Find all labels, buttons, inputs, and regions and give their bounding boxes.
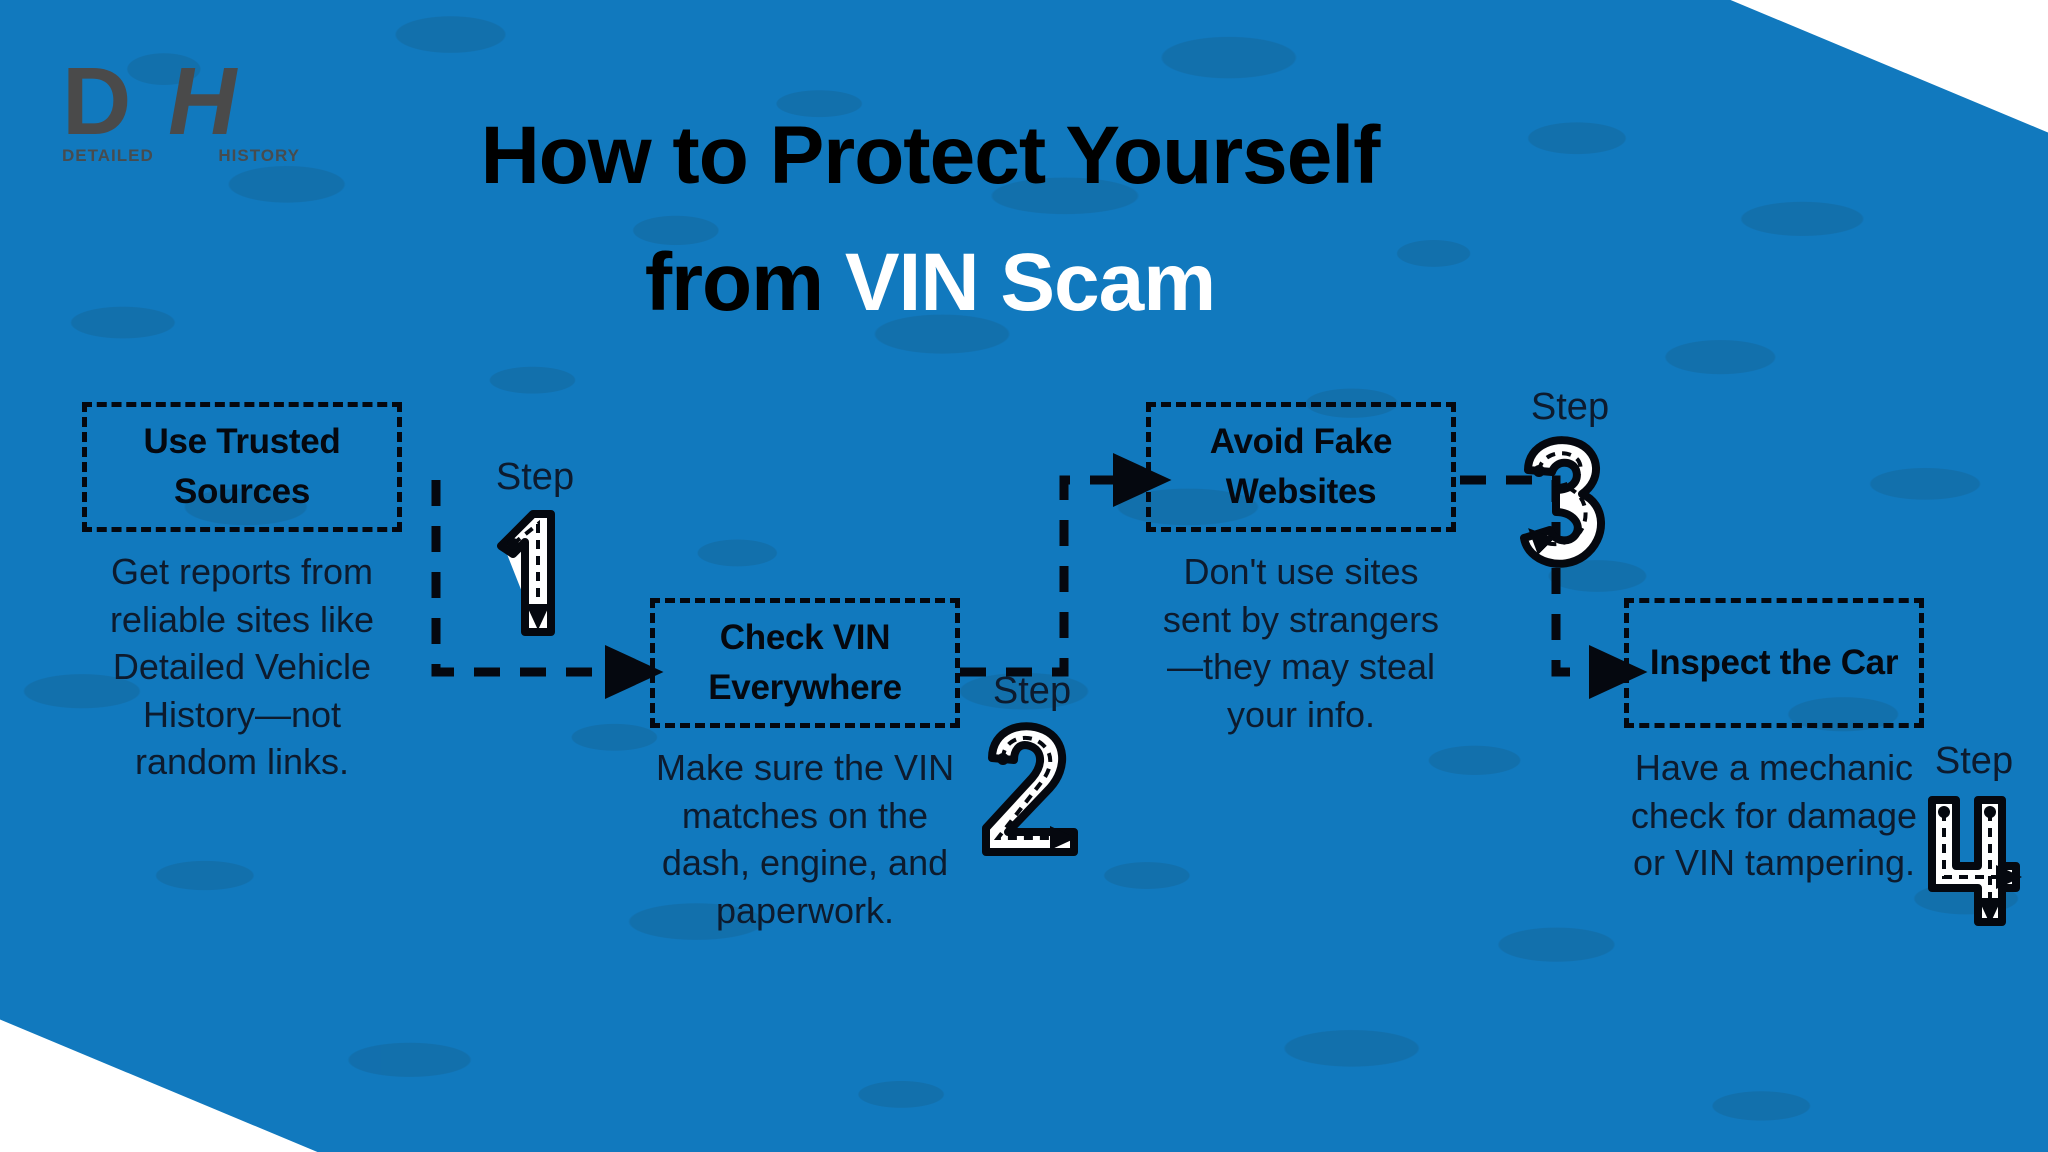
step-3-tag-word: Step — [1500, 388, 1640, 426]
logo-letter-d: D — [62, 58, 129, 146]
title-line-1: How to Protect Yourself — [481, 110, 1380, 201]
step-3-card[interactable]: Avoid Fake Websites — [1146, 402, 1456, 532]
infographic-canvas: D H DETAILED HISTORY How to Protect Your… — [0, 0, 2048, 1152]
step-3-description: Don't use sites sent by strangers—they m… — [1146, 548, 1456, 738]
title-line-2-prefix: from — [645, 237, 845, 328]
step-1-number — [470, 498, 600, 648]
step-2-tag: Step — [962, 672, 1102, 862]
step-block-2: Check VIN Everywhere Make sure the VIN m… — [650, 598, 960, 934]
traced-numeral-3-icon — [1508, 428, 1633, 578]
step-2-description: Make sure the VIN matches on the dash, e… — [650, 744, 960, 934]
step-3-number — [1500, 428, 1640, 578]
step-1-tag: Step — [470, 458, 600, 648]
logo-letters: D H — [62, 58, 312, 144]
step-1-tag-word: Step — [470, 458, 600, 496]
step-3-title: Avoid Fake Websites — [1157, 417, 1445, 516]
step-4-number — [1904, 782, 2044, 932]
step-2-title: Check VIN Everywhere — [661, 613, 949, 712]
step-4-tag: Step — [1904, 742, 2044, 932]
step-2-number — [962, 712, 1102, 862]
step-4-card[interactable]: Inspect the Car — [1624, 598, 1924, 728]
step-1-description: Get reports from reliable sites like Det… — [82, 548, 402, 786]
traced-numeral-2-icon — [970, 712, 1095, 862]
step-4-description: Have a mechanic check for damage or VIN … — [1624, 744, 1924, 887]
step-3-tag: Step — [1500, 388, 1640, 578]
traced-numeral-1-icon — [475, 498, 595, 648]
step-4-tag-word: Step — [1904, 742, 2044, 780]
step-1-card[interactable]: Use Trusted Sources — [82, 402, 402, 532]
step-4-title: Inspect the Car — [1650, 638, 1898, 688]
page-title: How to Protect Yourself from VIN Scam — [300, 92, 1560, 346]
logo-word-history: HISTORY — [218, 146, 300, 166]
step-block-3: Avoid Fake Websites Don't use sites sent… — [1146, 402, 1456, 738]
title-highlight: VIN Scam — [845, 237, 1215, 328]
logo-letter-h: H — [162, 58, 245, 146]
step-2-card[interactable]: Check VIN Everywhere — [650, 598, 960, 728]
step-block-4: Inspect the Car Have a mechanic check fo… — [1624, 598, 1924, 887]
step-block-1: Use Trusted Sources Get reports from rel… — [82, 402, 402, 786]
title-line-2: from VIN Scam — [300, 219, 1560, 346]
brand-logo[interactable]: D H DETAILED HISTORY — [62, 58, 312, 176]
traced-numeral-4-icon — [1912, 782, 2037, 932]
step-1-title: Use Trusted Sources — [93, 417, 391, 516]
step-2-tag-word: Step — [962, 672, 1102, 710]
logo-subtext: DETAILED HISTORY — [62, 146, 300, 166]
logo-word-detailed: DETAILED — [62, 146, 154, 166]
